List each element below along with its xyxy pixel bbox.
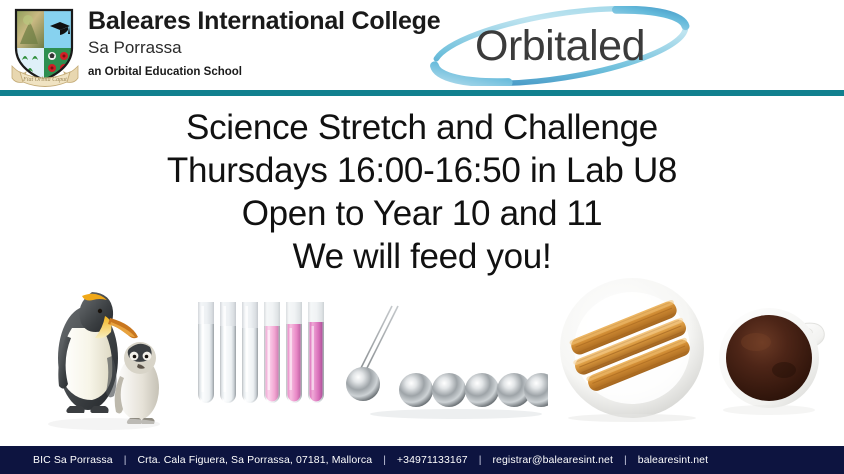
footer-item-address: Crta. Cala Figuera, Sa Porrassa, 07181, … [137,454,372,466]
school-name: Baleares International College [88,6,440,36]
svg-text:Fiat Orbita Caput: Fiat Orbita Caput [22,77,67,83]
footer-item-phone[interactable]: +34971133167 [397,454,468,466]
school-identity: Baleares International College Sa Porras… [88,6,440,78]
school-tagline: an Orbital Education School [88,66,440,78]
page-header: Fiat Orbita Caput Baleares International… [0,0,844,90]
orbitaled-logo: Orbitaled [425,6,695,86]
footer-separator: | [613,454,638,466]
test-tubes-photo [196,298,326,423]
footer-separator: | [372,454,397,466]
headline-line-2: Thursdays 16:00-16:50 in Lab U8 [0,149,844,192]
headline-line-3: Open to Year 10 and 11 [0,192,844,235]
poster-canvas: Fiat Orbita Caput Baleares International… [0,0,844,474]
newtons-cradle-photo [336,298,548,420]
orbitaled-wordmark-text: Orbitaled [475,22,645,70]
school-location: Sa Porrassa [88,37,440,59]
headline-block: Science Stretch and Challenge Thursdays … [0,106,844,278]
footer-item-email[interactable]: registrar@balearesint.net [492,454,613,466]
page-footer: BIC Sa Porrassa | Crta. Cala Figuera, Sa… [0,446,844,474]
churros-plate-photo [556,272,708,422]
footer-item-website[interactable]: balearesint.net [638,454,708,466]
school-crest-icon: Fiat Orbita Caput [8,4,82,88]
penguins-photo [30,278,170,438]
hot-chocolate-photo [712,296,836,418]
footer-separator: | [468,454,493,466]
headline-line-1: Science Stretch and Challenge [0,106,844,149]
imagery-strip [0,270,844,442]
footer-separator: | [113,454,138,466]
header-divider [0,90,844,96]
footer-item-campus: BIC Sa Porrassa [33,454,113,466]
